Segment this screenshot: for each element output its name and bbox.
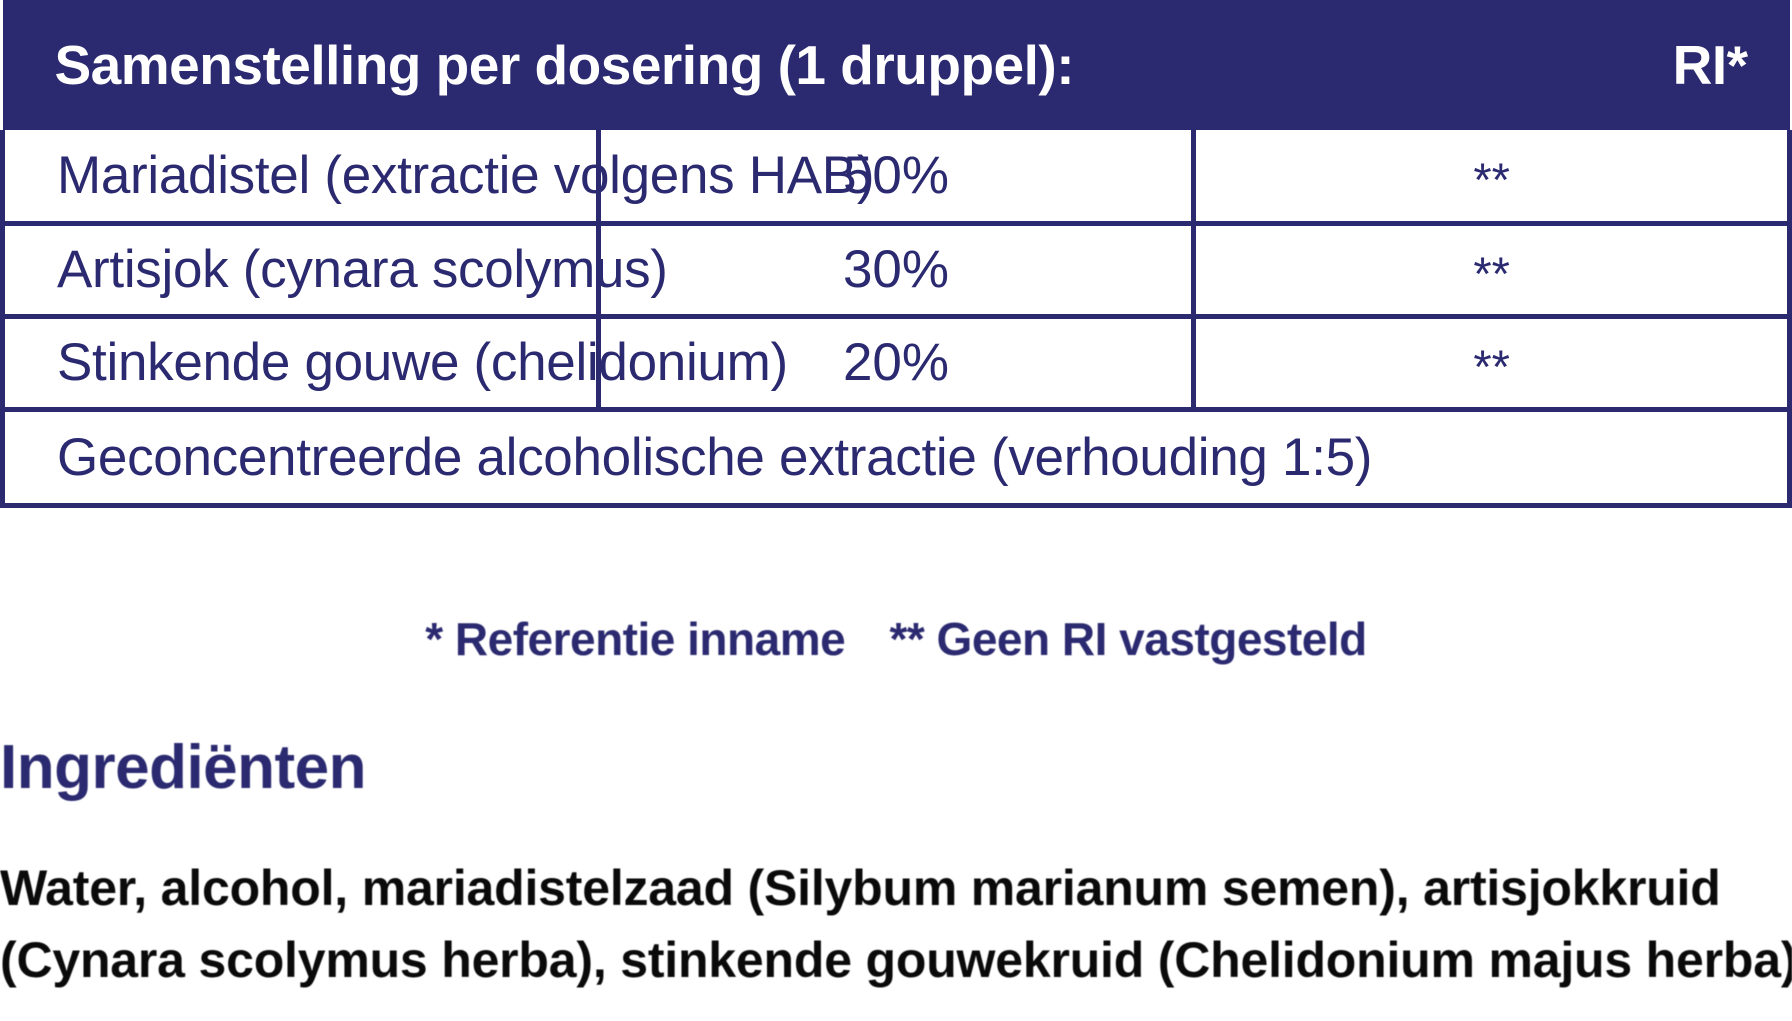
table-row: Stinkende gouwe (chelidonium) 20% ** (3, 316, 1790, 409)
ingredient-percent-cell: 30% (598, 223, 1194, 316)
ingredients-heading: Ingrediënten (0, 737, 366, 799)
ingredient-name-cell: Mariadistel (extractie volgens HAB) (3, 130, 599, 223)
table-row-full-width: Geconcentreerde alcoholische extractie (… (3, 409, 1790, 505)
table-body: Mariadistel (extractie volgens HAB) 50% … (3, 130, 1790, 505)
table-row: Artisjok (cynara scolymus) 30% ** (3, 223, 1790, 316)
ingredient-ri-cell: ** (1194, 130, 1790, 223)
table-header: Samenstelling per dosering (1 druppel): … (3, 0, 1790, 130)
ingredients-text: Water, alcohol, mariadistelzaad (Silybum… (0, 852, 1792, 996)
footnote-no-ri: ** Geen RI vastgesteld (889, 612, 1366, 666)
composition-table: Samenstelling per dosering (1 druppel): … (0, 0, 1792, 508)
footnote-reference-intake: * Referentie inname (425, 612, 845, 666)
footnote-row: * Referentie inname ** Geen RI vastgeste… (0, 612, 1792, 666)
table-title: Samenstelling per dosering (1 druppel): (3, 0, 1194, 130)
ingredients-line-1: Water, alcohol, mariadistelzaad (Silybum… (0, 852, 1792, 924)
ri-column-header: RI* (1194, 0, 1790, 130)
ingredient-name-cell: Stinkende gouwe (chelidonium) (3, 316, 599, 409)
concentration-note-cell: Geconcentreerde alcoholische extractie (… (3, 409, 1790, 505)
ingredient-ri-cell: ** (1194, 223, 1790, 316)
nutrition-panel: Samenstelling per dosering (1 druppel): … (0, 0, 1792, 1021)
table-header-row: Samenstelling per dosering (1 druppel): … (3, 0, 1790, 130)
table-row: Mariadistel (extractie volgens HAB) 50% … (3, 130, 1790, 223)
ingredient-name-cell: Artisjok (cynara scolymus) (3, 223, 599, 316)
ingredient-ri-cell: ** (1194, 316, 1790, 409)
ingredients-line-2: (Cynara scolymus herba), stinkende gouwe… (0, 924, 1792, 996)
